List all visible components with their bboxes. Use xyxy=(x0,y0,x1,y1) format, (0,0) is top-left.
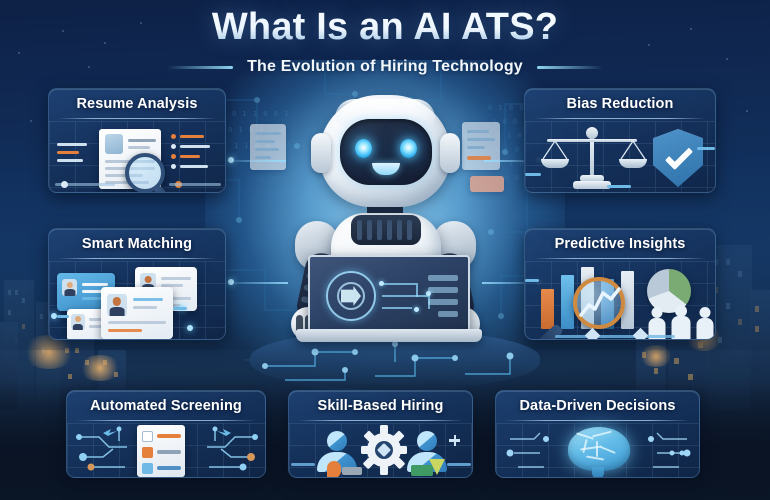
panel-bias-reduction[interactable]: Bias Reduction xyxy=(524,88,716,193)
robot-eye-right xyxy=(400,139,417,158)
panel-title-predictive-insights: Predictive Insights xyxy=(525,229,715,252)
page-title: What Is an AI ATS? xyxy=(0,6,770,49)
panel-divider xyxy=(298,420,463,421)
page-subtitle: The Evolution of Hiring Technology xyxy=(247,58,523,76)
robot-ear-left xyxy=(311,133,331,173)
panel-data-driven-decisions[interactable]: Data-Driven Decisions xyxy=(495,390,700,478)
panel-smart-matching[interactable]: Smart Matching xyxy=(48,228,226,340)
panel-divider xyxy=(58,258,216,259)
panel-divider xyxy=(58,118,216,119)
panel-art-resume-analysis xyxy=(49,121,225,192)
panel-title-data-driven-decisions: Data-Driven Decisions xyxy=(496,391,699,414)
laptop-base xyxy=(296,329,482,342)
panel-automated-screening[interactable]: Automated Screening xyxy=(66,390,266,478)
robot-chest-panel xyxy=(351,215,421,245)
panel-art-data-driven-decisions xyxy=(496,423,699,477)
panel-title-bias-reduction: Bias Reduction xyxy=(525,89,715,112)
panel-art-bias-reduction xyxy=(525,121,715,192)
panel-skill-based-hiring[interactable]: Skill-Based Hiring xyxy=(288,390,473,478)
robot-ear-right xyxy=(440,133,460,173)
panel-title-automated-screening: Automated Screening xyxy=(67,391,265,414)
panel-title-smart-matching: Smart Matching xyxy=(49,229,225,252)
panel-title-resume-analysis: Resume Analysis xyxy=(49,89,225,112)
panel-art-predictive-insights xyxy=(525,261,715,339)
panel-divider xyxy=(534,118,706,119)
panel-title-skill-based-hiring: Skill-Based Hiring xyxy=(289,391,472,414)
panel-resume-analysis[interactable]: Resume Analysis xyxy=(48,88,226,193)
robot-smile xyxy=(372,163,400,175)
subtitle-dash-right xyxy=(537,66,603,69)
panel-art-skill-based-hiring xyxy=(289,423,472,477)
infographic-canvas: 0 1 0 0 1 0 1 0 0 1 1 0 0 1 1 0 0 1 1 1 … xyxy=(0,0,770,500)
panel-divider xyxy=(534,258,706,259)
panel-predictive-insights[interactable]: Predictive Insights xyxy=(524,228,716,340)
robot-face-visor xyxy=(340,119,432,185)
laptop xyxy=(296,255,482,347)
panel-divider xyxy=(505,420,690,421)
panel-art-automated-screening xyxy=(67,423,265,477)
panel-art-smart-matching xyxy=(49,261,225,339)
subtitle-row: The Evolution of Hiring Technology xyxy=(0,58,770,76)
robot-eye-left xyxy=(355,139,372,158)
subtitle-dash-left xyxy=(167,66,233,69)
panel-divider xyxy=(76,420,256,421)
laptop-screen xyxy=(308,255,470,331)
